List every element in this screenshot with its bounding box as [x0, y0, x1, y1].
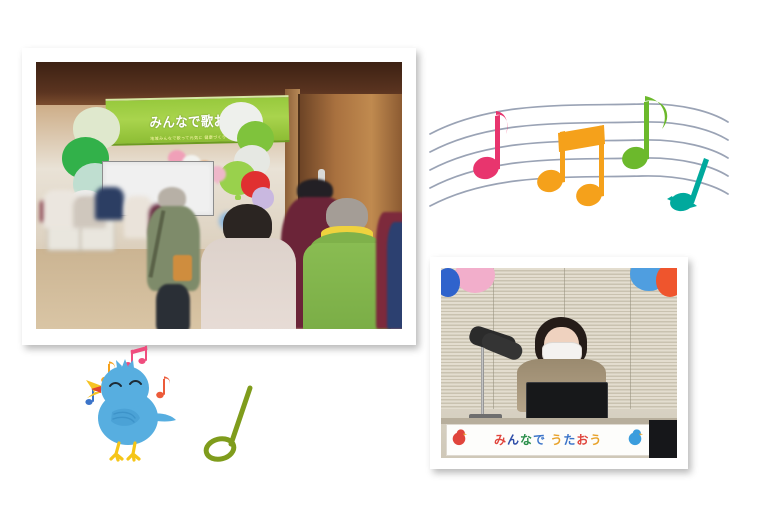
photo-community-hall[interactable]: みんなで歌おう♪ 地域みんなで歌って元気に 健康づくり 歌声喫茶 [22, 48, 416, 345]
banner-char-2: ん [507, 433, 520, 447]
microphone-stand [481, 344, 484, 416]
photo-community-hall-image: みんなで歌おう♪ 地域みんなで歌って元気に 健康づくり 歌声喫茶 [36, 62, 402, 329]
banner-dark-edge [649, 420, 677, 458]
note-teal [667, 158, 709, 213]
eighth-note-green [619, 96, 667, 172]
hall-seated-person-3 [95, 187, 124, 219]
banner-bird-red-icon [450, 428, 468, 446]
banner-char-1: み [494, 433, 507, 447]
singer-banner: みんなで うたおう [446, 424, 651, 456]
beamed-eighth-notes-orange [534, 125, 605, 209]
banner-char-7: お [576, 433, 589, 447]
hall-person-green-coat [146, 187, 201, 329]
hall-person-body [201, 238, 296, 329]
banner-char-4: で [533, 433, 546, 447]
blind-seam-3 [630, 268, 631, 409]
banner-char-8: う [589, 433, 602, 447]
singing-bird-illustration [78, 342, 278, 477]
bird-head [101, 366, 149, 410]
banner-bird-blue-icon [626, 428, 644, 446]
bird-beak-lower [87, 392, 102, 398]
banner-char-6: た [563, 433, 576, 447]
bird-foot-right [128, 443, 139, 460]
hall-person-legs [156, 284, 190, 329]
bird-body-group [86, 359, 176, 460]
hall-person-cream-coat [201, 209, 296, 329]
bird-foot-left [111, 443, 122, 460]
singer-banner-text: みんなで うたおう [494, 431, 602, 448]
music-staff-illustration [424, 82, 734, 242]
green-quarter-note [204, 388, 250, 462]
hall-person-bag [173, 255, 192, 280]
hall-person-far-right-2 [387, 222, 402, 329]
banner-char-5: う [550, 433, 563, 447]
laptop-screen [526, 382, 608, 422]
bird-note-pink [124, 346, 147, 368]
bird-note-red [156, 376, 170, 398]
photo-singer-at-desk[interactable]: みんなで うたおう [430, 257, 688, 469]
banner-char-3: な [520, 433, 533, 447]
photo-singer-image: みんなで うたおう [441, 268, 677, 458]
